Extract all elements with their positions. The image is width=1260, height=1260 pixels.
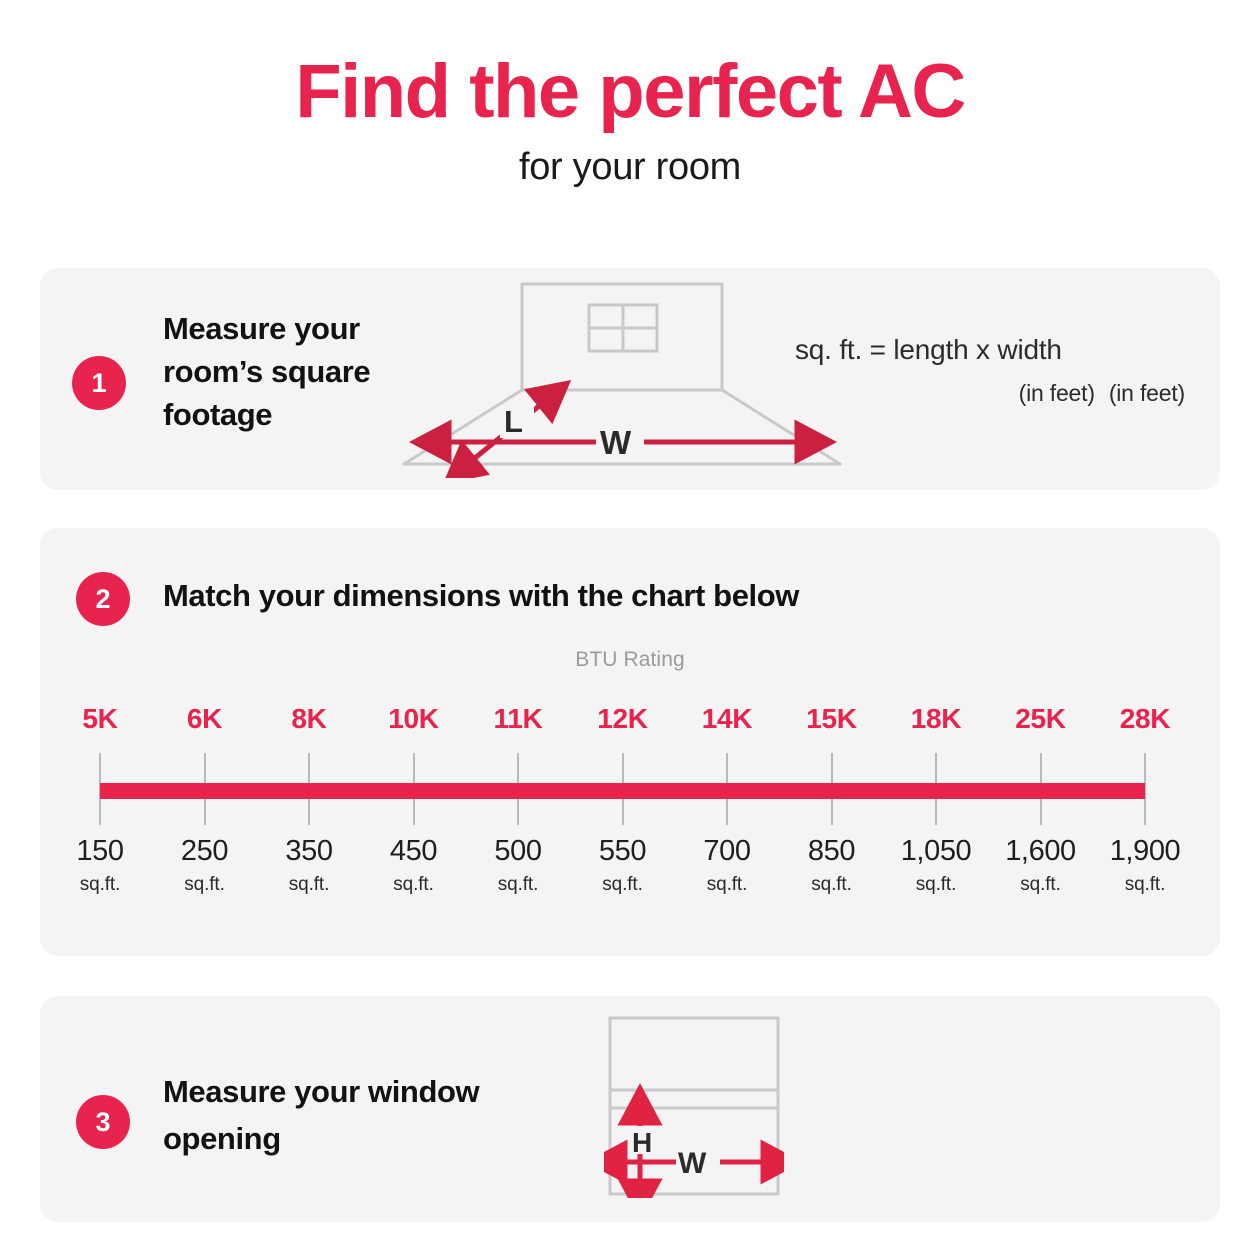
room-size-value: 1,050 — [884, 837, 988, 866]
room-size-unit: sq.ft. — [362, 875, 466, 894]
step-2-label: Match your dimensions with the chart bel… — [163, 578, 799, 614]
btu-rating-label: 12K — [571, 705, 675, 733]
btu-scale-column: 18K1,050sq.ft. — [884, 705, 988, 733]
formula-unit-length: (in feet) — [1019, 380, 1095, 407]
btu-rating-label: 10K — [362, 705, 466, 733]
btu-rating-label: 6K — [153, 705, 257, 733]
room-size-value: 700 — [675, 837, 779, 866]
btu-rating-label: 15K — [780, 705, 884, 733]
window-opening-diagram: H W — [604, 1014, 784, 1198]
btu-rating-label: 8K — [257, 705, 361, 733]
formula-unit-width: (in feet) — [1109, 380, 1185, 407]
btu-rating-label: 5K — [48, 705, 152, 733]
room-size-unit: sq.ft. — [1093, 875, 1197, 894]
btu-scale-column: 8K350sq.ft. — [257, 705, 361, 733]
width-label: W — [600, 424, 632, 461]
step-3-label: Measure your window opening — [163, 1068, 543, 1162]
btu-scale-column: 28K1,900sq.ft. — [1093, 705, 1197, 733]
room-size-unit: sq.ft. — [675, 875, 779, 894]
wall-window-icon — [589, 305, 657, 351]
room-size-value: 250 — [153, 837, 257, 866]
room-size-unit: sq.ft. — [884, 875, 988, 894]
window-height-label: H — [632, 1127, 652, 1158]
page-subtitle: for your room — [0, 146, 1260, 189]
btu-scale-bar — [100, 783, 1145, 799]
room-size-value: 450 — [362, 837, 466, 866]
room-size-value: 150 — [48, 837, 152, 866]
room-size-value: 1,600 — [989, 837, 1093, 866]
window-width-label: W — [678, 1147, 707, 1180]
page-title: Find the perfect AC — [0, 52, 1260, 132]
btu-rating-label: 28K — [1093, 705, 1197, 733]
page-header: Find the perfect AC for your room — [0, 52, 1260, 189]
room-size-unit: sq.ft. — [780, 875, 884, 894]
btu-rating-label: 25K — [989, 705, 1093, 733]
btu-scale-column: 25K1,600sq.ft. — [989, 705, 1093, 733]
btu-scale-column: 11K500sq.ft. — [466, 705, 570, 733]
btu-rating-label: 11K — [466, 705, 570, 733]
btu-scale-chart: 5K150sq.ft.6K250sq.ft.8K350sq.ft.10K450s… — [0, 705, 1260, 915]
step-3-badge: 3 — [76, 1095, 130, 1149]
formula-equation: sq. ft. = length x width — [795, 334, 1195, 366]
square-footage-formula: sq. ft. = length x width (in feet)(in fe… — [795, 334, 1195, 407]
room-size-unit: sq.ft. — [989, 875, 1093, 894]
room-size-value: 550 — [571, 837, 675, 866]
btu-rating-label: 14K — [675, 705, 779, 733]
step-2-badge: 2 — [76, 572, 130, 626]
room-size-value: 350 — [257, 837, 361, 866]
infographic-page: Find the perfect AC for your room 1 Meas… — [0, 0, 1260, 1260]
btu-rating-caption: BTU Rating — [0, 648, 1260, 672]
btu-scale-column: 10K450sq.ft. — [362, 705, 466, 733]
room-size-value: 500 — [466, 837, 570, 866]
room-perspective-diagram: L W — [392, 278, 842, 478]
room-size-value: 850 — [780, 837, 884, 866]
btu-rating-label: 18K — [884, 705, 988, 733]
btu-scale-column: 6K250sq.ft. — [153, 705, 257, 733]
btu-scale-column: 14K700sq.ft. — [675, 705, 779, 733]
room-size-unit: sq.ft. — [571, 875, 675, 894]
room-size-unit: sq.ft. — [48, 875, 152, 894]
btu-scale-column: 12K550sq.ft. — [571, 705, 675, 733]
room-size-unit: sq.ft. — [466, 875, 570, 894]
btu-scale-column: 5K150sq.ft. — [48, 705, 152, 733]
room-size-unit: sq.ft. — [257, 875, 361, 894]
btu-scale-column: 15K850sq.ft. — [780, 705, 884, 733]
room-size-value: 1,900 — [1093, 837, 1197, 866]
room-size-unit: sq.ft. — [153, 875, 257, 894]
step-1-badge: 1 — [72, 356, 126, 410]
formula-units: (in feet)(in feet) — [795, 380, 1195, 407]
length-label: L — [504, 404, 523, 439]
